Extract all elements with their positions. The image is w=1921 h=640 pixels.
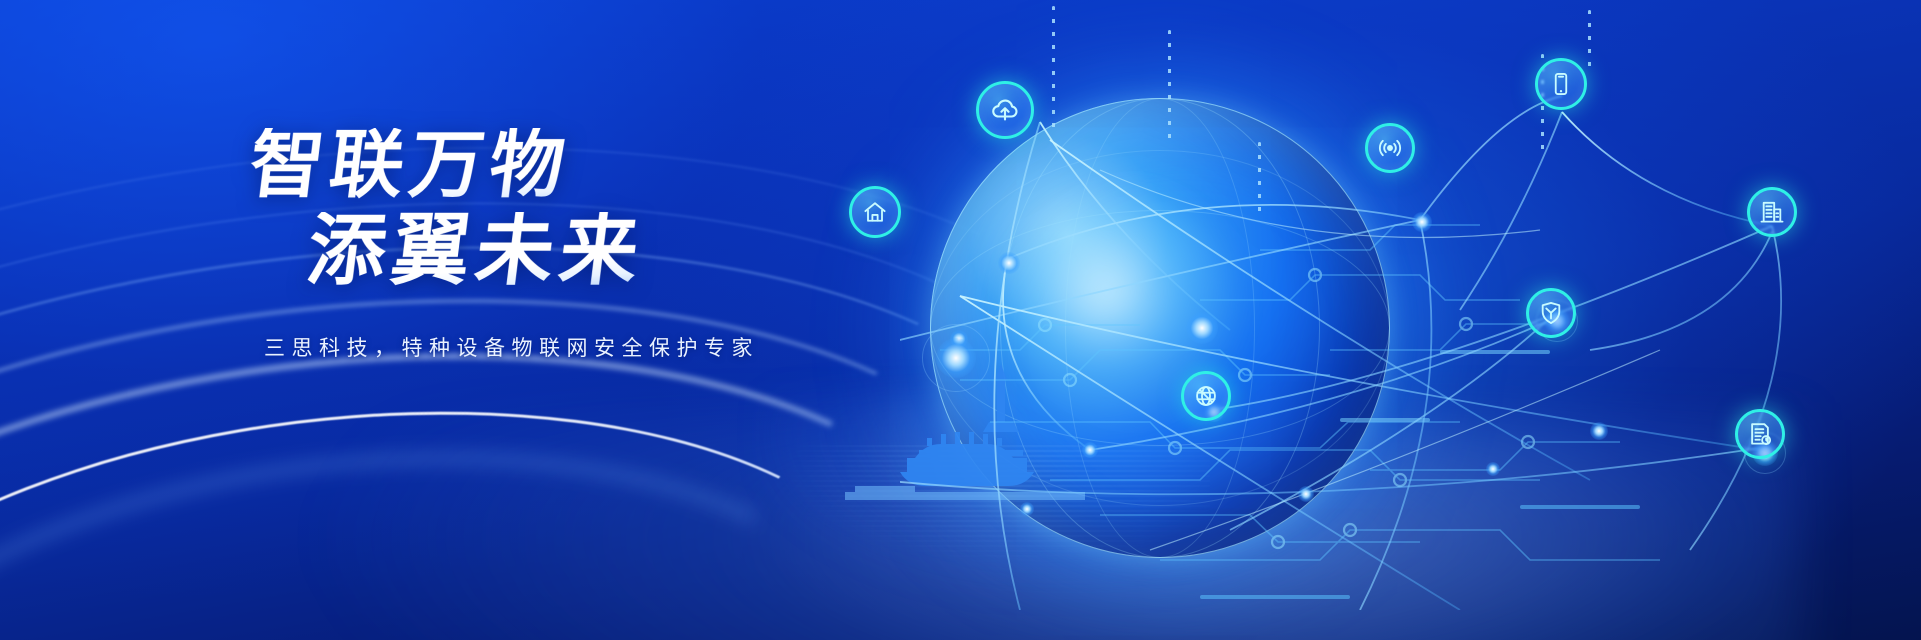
building-icon[interactable] (1747, 187, 1797, 237)
headline-line-1: 智联万物 (245, 128, 1014, 202)
globe-network-icon[interactable] (1181, 371, 1231, 421)
document-report-icon[interactable] (1735, 409, 1785, 459)
network-node (1486, 462, 1500, 476)
network-node (1412, 212, 1432, 232)
network-node (1020, 502, 1034, 516)
network-node (1590, 422, 1608, 440)
light-streak (0, 395, 915, 640)
shield-glyph (1537, 299, 1565, 327)
banner-copy: 智联万物 添翼未来 三思科技，特种设备物联网安全保护专家 (250, 128, 1010, 362)
document-report-glyph (1746, 420, 1774, 448)
network-node (1186, 312, 1218, 344)
banner-subtitle: 三思科技，特种设备物联网安全保护专家 (264, 332, 1010, 362)
mobile-phone-glyph (1547, 70, 1575, 98)
globe-network-glyph (1192, 382, 1220, 410)
hero-banner: 智联万物 添翼未来 三思科技，特种设备物联网安全保护专家 (0, 0, 1921, 640)
wifi-signal-glyph (1376, 134, 1404, 162)
cloud-upload-glyph (989, 94, 1021, 126)
network-node (1298, 486, 1314, 502)
wifi-signal-icon[interactable] (1365, 123, 1415, 173)
shield-icon[interactable] (1526, 288, 1576, 338)
mobile-phone-icon[interactable] (1535, 58, 1587, 110)
headline-line-2: 添翼未来 (303, 212, 1015, 290)
network-node (1082, 442, 1098, 458)
building-glyph (1758, 198, 1786, 226)
iot-globe-scene (900, 50, 1921, 610)
